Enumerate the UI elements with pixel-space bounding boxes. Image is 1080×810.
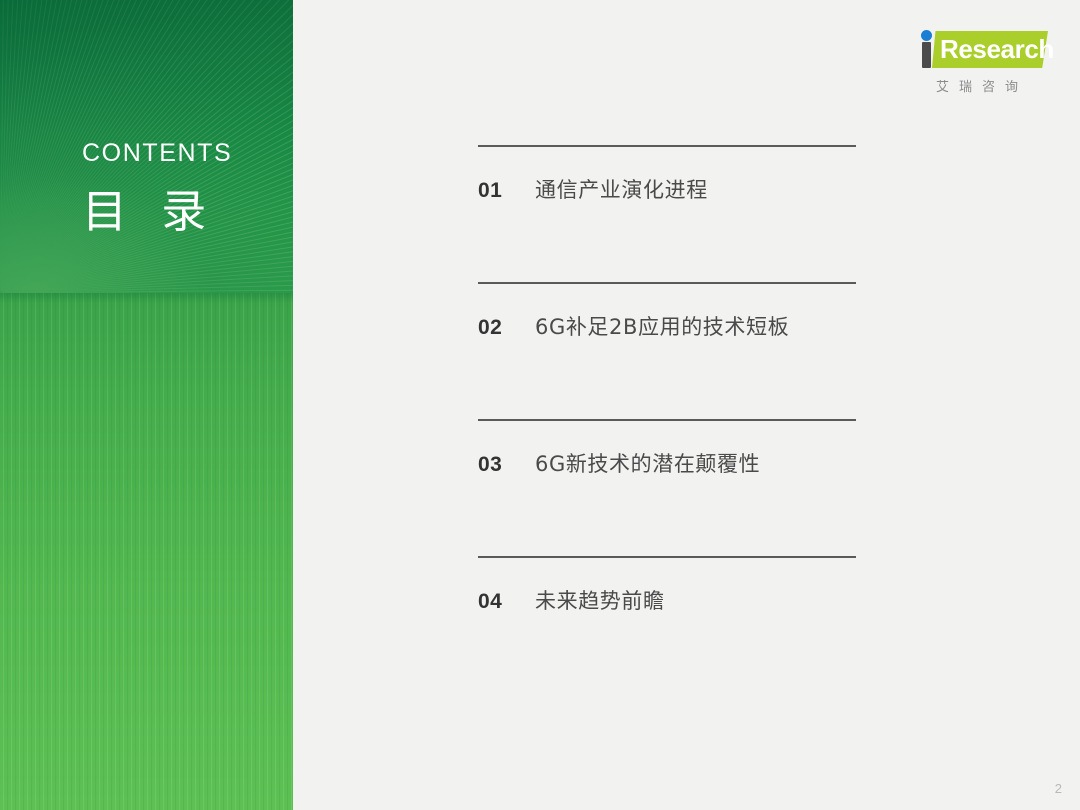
table-of-contents: 01 通信产业演化进程 02 6G补足2B应用的技术短板 03 6G新技术的潜在…	[478, 145, 856, 693]
contents-title-en: CONTENTS	[82, 139, 232, 168]
panel-bottom-shade	[0, 293, 293, 303]
contents-title-cn: 目 录	[82, 175, 216, 240]
iresearch-logo: Research 艾瑞咨询	[918, 28, 1050, 100]
toc-row: 04 未来趋势前瞻	[478, 585, 665, 615]
toc-divider	[478, 419, 856, 421]
vertical-stripes-pattern	[0, 293, 293, 810]
toc-divider	[478, 145, 856, 147]
toc-entry-01[interactable]: 01 通信产业演化进程	[478, 145, 856, 282]
toc-row: 02 6G补足2B应用的技术短板	[478, 311, 789, 341]
toc-number: 03	[478, 453, 535, 477]
left-decorative-panel	[0, 0, 293, 810]
logo-i-stem-icon	[922, 42, 931, 68]
toc-entry-02[interactable]: 02 6G补足2B应用的技术短板	[478, 282, 856, 419]
toc-number: 02	[478, 316, 535, 340]
toc-label: 通信产业演化进程	[535, 174, 708, 204]
toc-row: 01 通信产业演化进程	[478, 174, 708, 204]
page-number: 2	[1055, 781, 1062, 796]
logo-wordmark: Research	[940, 35, 1054, 63]
toc-entry-03[interactable]: 03 6G新技术的潜在颠覆性	[478, 419, 856, 556]
toc-label: 6G新技术的潜在颠覆性	[535, 448, 760, 478]
toc-number: 04	[478, 590, 535, 614]
toc-divider	[478, 556, 856, 558]
striped-panel	[0, 293, 293, 810]
logo-company-name-cn: 艾瑞咨询	[936, 76, 1028, 95]
toc-label: 6G补足2B应用的技术短板	[535, 311, 789, 341]
toc-number: 01	[478, 179, 535, 203]
logo-mark: Research	[918, 28, 1050, 72]
toc-label: 未来趋势前瞻	[535, 585, 665, 615]
slide-contents-page: CONTENTS 目 录 Research 艾瑞咨询 01 通信产业演化进程 0…	[0, 0, 1080, 810]
toc-row: 03 6G新技术的潜在颠覆性	[478, 448, 760, 478]
toc-entry-04[interactable]: 04 未来趋势前瞻	[478, 556, 856, 693]
logo-i-dot-icon	[921, 30, 932, 41]
toc-divider	[478, 282, 856, 284]
